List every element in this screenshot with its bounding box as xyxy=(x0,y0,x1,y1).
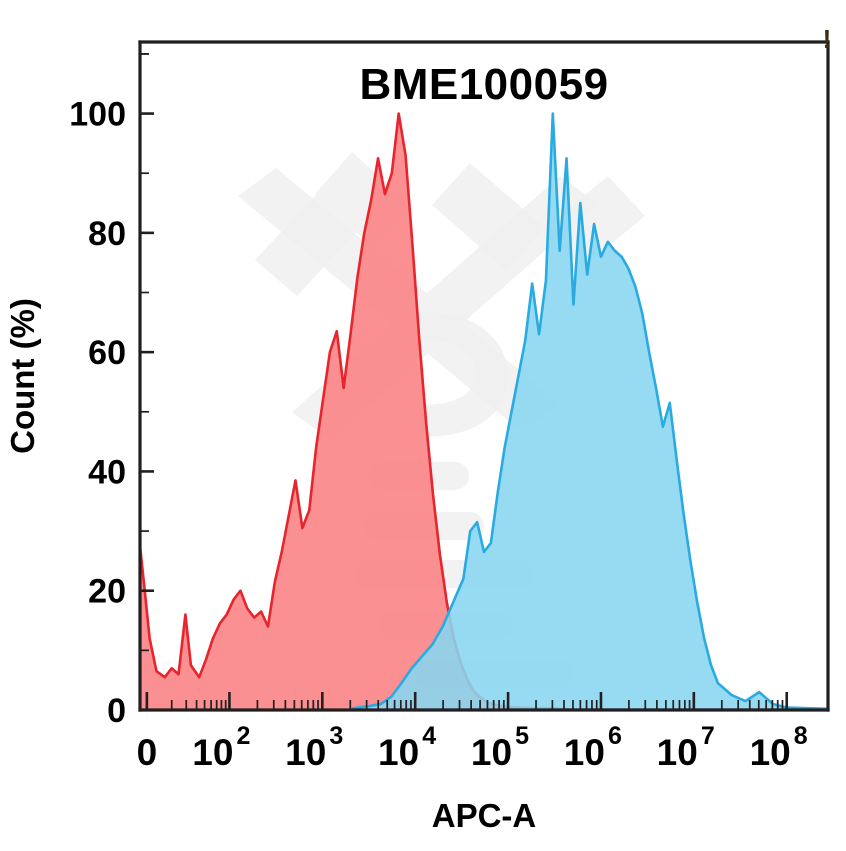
svg-text:10: 10 xyxy=(750,732,791,773)
y-axis-tick-labels: 020406080100 xyxy=(69,96,126,730)
x-tick-label: 105 xyxy=(471,722,529,773)
y-tick-label: 20 xyxy=(88,573,126,611)
x-tick-label: 106 xyxy=(564,722,622,773)
svg-text:4: 4 xyxy=(422,722,436,750)
y-tick-label: 60 xyxy=(88,334,126,372)
corner-exclamation-icon: ! xyxy=(823,24,832,54)
svg-text:10: 10 xyxy=(192,732,233,773)
y-tick-label: 0 xyxy=(107,692,126,730)
y-tick-label: 100 xyxy=(69,96,126,134)
plot-title: BME100059 xyxy=(359,60,608,109)
x-axis-title: APC-A xyxy=(432,797,537,834)
flow-cytometry-figure: 020406080100 0102103104105106107108 BME1… xyxy=(0,0,846,851)
y-tick-label: 40 xyxy=(88,453,126,491)
svg-text:3: 3 xyxy=(329,722,343,750)
svg-text:10: 10 xyxy=(285,732,326,773)
y-axis-title: Count (%) xyxy=(4,298,41,454)
svg-text:10: 10 xyxy=(378,732,419,773)
x-tick-label: 104 xyxy=(378,722,436,773)
x-tick-label: 0 xyxy=(137,732,158,773)
svg-text:8: 8 xyxy=(794,722,808,750)
svg-text:10: 10 xyxy=(471,732,512,773)
x-tick-label: 108 xyxy=(750,722,808,773)
svg-text:10: 10 xyxy=(564,732,605,773)
x-axis-tick-labels: 0102103104105106107108 xyxy=(137,722,808,773)
y-tick-label: 80 xyxy=(88,215,126,253)
histogram-plot: 020406080100 0102103104105106107108 BME1… xyxy=(0,0,846,851)
svg-text:10: 10 xyxy=(657,732,698,773)
x-tick-label: 102 xyxy=(192,722,250,773)
svg-text:6: 6 xyxy=(608,722,622,750)
x-tick-label: 103 xyxy=(285,722,343,773)
x-tick-label: 107 xyxy=(657,722,715,773)
svg-text:0: 0 xyxy=(137,732,158,773)
svg-text:5: 5 xyxy=(515,722,529,750)
svg-text:2: 2 xyxy=(236,722,250,750)
svg-text:7: 7 xyxy=(701,722,715,750)
